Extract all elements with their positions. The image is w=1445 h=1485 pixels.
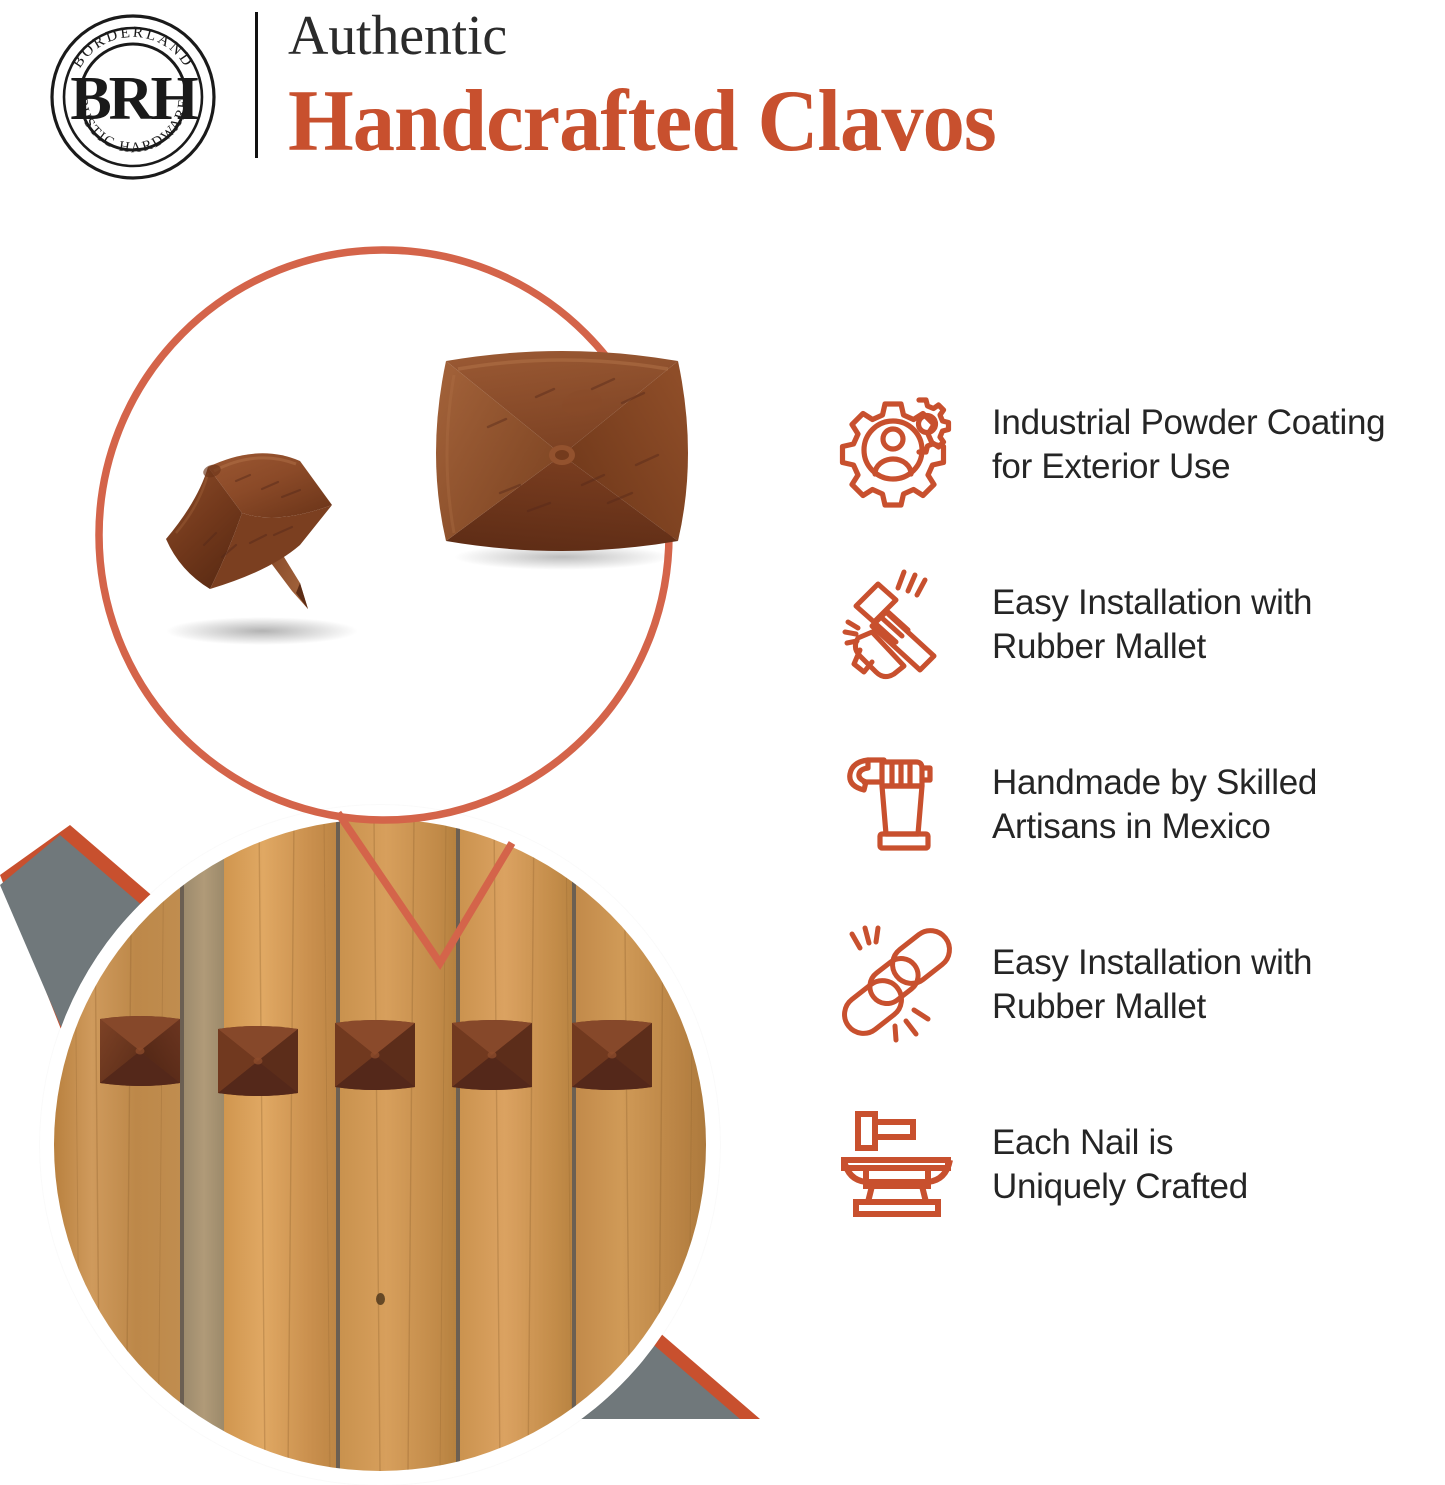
feature-item: Industrial Powder Coating for Exterior U… bbox=[838, 355, 1445, 535]
chain-links-icon bbox=[838, 926, 956, 1044]
header-divider bbox=[255, 12, 258, 158]
borderland-rustic-hardware-seal-icon: BORDERLAND RUSTIC HARDWARE BRH bbox=[48, 12, 218, 182]
clavos-product-photo bbox=[150, 345, 690, 685]
fist-wrench-icon bbox=[838, 746, 956, 864]
feature-item: Easy Installation with Rubber Mallet bbox=[838, 895, 1445, 1075]
feature-item: Handmade by Skilled Artisans in Mexico bbox=[838, 715, 1445, 895]
anvil-hammer-icon bbox=[838, 1106, 956, 1224]
feature-label: Easy Installation with Rubber Mallet bbox=[992, 581, 1312, 669]
feature-item: Each Nail is Uniquely Crafted bbox=[838, 1075, 1445, 1255]
clavo-nail-front-view bbox=[432, 345, 692, 573]
product-imagery-panel bbox=[0, 185, 800, 1419]
feature-label: Handmade by Skilled Artisans in Mexico bbox=[992, 761, 1317, 849]
page-header: BORDERLAND RUSTIC HARDWARE BRH Authentic… bbox=[0, 0, 1445, 185]
feature-label: Each Nail is Uniquely Crafted bbox=[992, 1121, 1248, 1209]
clavo-nail-angled-view bbox=[150, 393, 380, 643]
page-title-line-1: Authentic bbox=[288, 6, 1408, 66]
wood-knot bbox=[376, 1293, 385, 1305]
feature-label: Industrial Powder Coating for Exterior U… bbox=[992, 401, 1385, 489]
page-title-line-2: Handcrafted Clavos bbox=[288, 74, 1363, 170]
feature-item: Easy Installation with Rubber Mallet bbox=[838, 535, 1445, 715]
feature-label: Easy Installation with Rubber Mallet bbox=[992, 941, 1312, 1029]
page-title: Authentic Handcrafted Clavos bbox=[288, 6, 1408, 170]
seal-monogram: BRH bbox=[70, 65, 198, 133]
gear-person-icon bbox=[838, 386, 956, 504]
feature-list: Industrial Powder Coating for Exterior U… bbox=[838, 355, 1445, 1255]
hand-mallet-icon bbox=[838, 566, 956, 684]
